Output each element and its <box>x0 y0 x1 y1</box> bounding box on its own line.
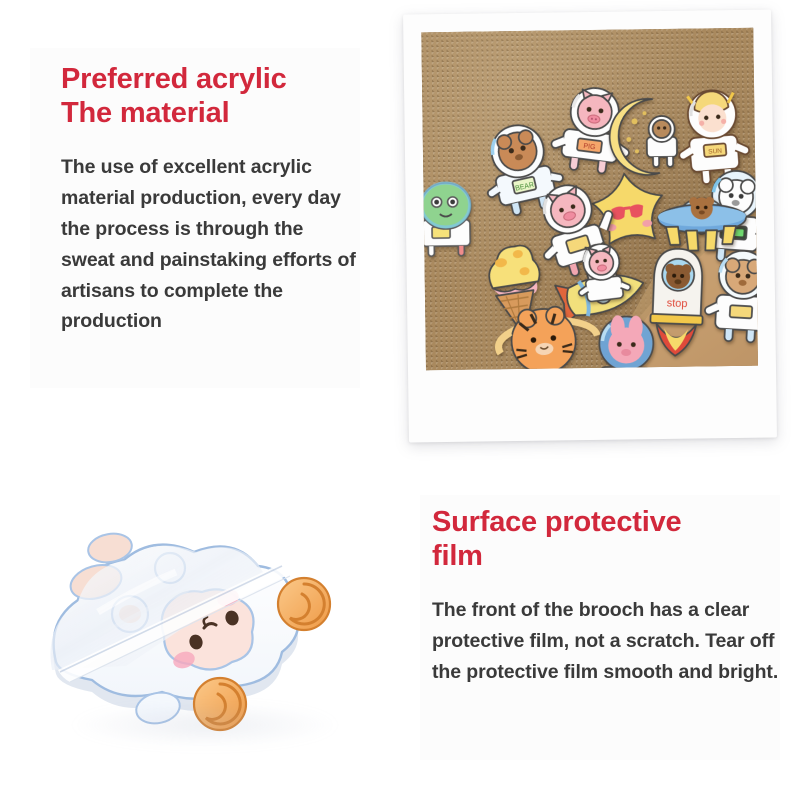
brooch-pink-rabbit-astronaut <box>581 311 673 371</box>
svg-text:SUN: SUN <box>708 148 723 156</box>
brooch-brown-bear-astronaut-right <box>700 246 758 342</box>
svg-text:PIG: PIG <box>583 143 596 151</box>
section-film: Surface protective film The front of the… <box>420 495 780 760</box>
svg-text:stop: stop <box>666 297 687 310</box>
film-body-text: The front of the brooch has a clear prot… <box>432 595 782 687</box>
brooch-small-pig-astronaut <box>569 236 639 311</box>
product-feature-page: Preferred acrylic The material The use o… <box>0 0 800 800</box>
film-heading: Surface protective film <box>432 505 732 573</box>
sheep-brooch-photo <box>18 492 394 788</box>
polaroid-photo-frame: BEAR <box>403 9 777 442</box>
material-body-text: The use of excellent acrylic material pr… <box>61 152 356 337</box>
sheep-shadow-glow <box>70 702 340 748</box>
brooch-collection-photo: BEAR <box>421 28 758 371</box>
sheep-horn-right <box>278 578 330 630</box>
material-heading: Preferred acrylic The material <box>61 62 351 130</box>
section-material: Preferred acrylic The material The use o… <box>30 48 360 388</box>
